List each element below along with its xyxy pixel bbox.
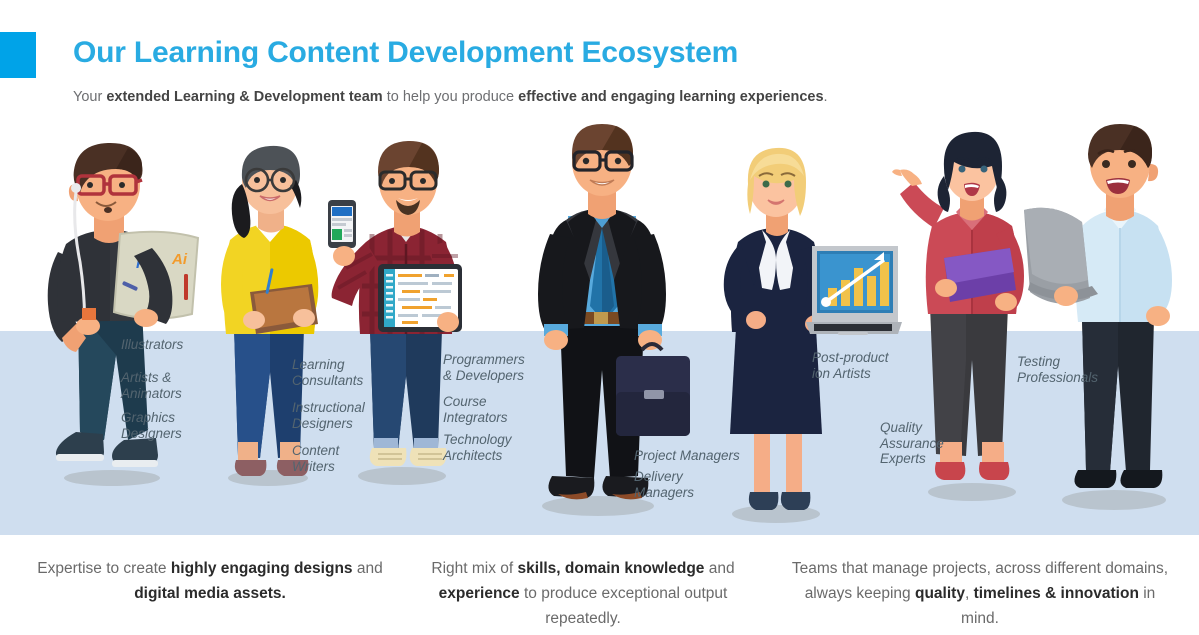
role-label-instructional-designers: Instructional Designers: [292, 400, 365, 431]
role-label-quality-assurance: Quality Assurance Experts: [880, 420, 944, 467]
role-label-post-production-artists: Post-product ion Artists: [812, 350, 889, 381]
shoe-left: [749, 492, 779, 510]
role-label-graphics-designers: Graphics Designers: [121, 410, 182, 441]
caption-design: Expertise to create highly engaging desi…: [30, 556, 390, 606]
caption-skills: Right mix of skills, domain knowledge an…: [418, 556, 748, 631]
figure-consultant: [208, 142, 338, 492]
page-subtitle: Your extended Learning & Development tea…: [73, 89, 828, 105]
infographic-page: Our Learning Content Development Ecosyst…: [0, 0, 1199, 635]
figure-shadow: [358, 467, 446, 485]
role-label-project-managers: Project Managers: [634, 448, 740, 464]
bottom-captions: Expertise to create highly engaging desi…: [0, 548, 1199, 635]
shoe-right: [1120, 470, 1162, 488]
briefcase: [616, 344, 690, 436]
role-label-technology-architects: Technology Architects: [443, 432, 512, 463]
laptop-with-chart: [806, 246, 902, 335]
page-title: Our Learning Content Development Ecosyst…: [73, 36, 738, 70]
role-label-programmers-developers: Programmers & Developers: [443, 352, 525, 383]
shoe-left: [1074, 470, 1116, 488]
shoe-left: [235, 460, 267, 476]
role-label-testing-professionals: Testing Professionals: [1017, 354, 1098, 385]
caption-management: Teams that manage projects, across diffe…: [790, 556, 1170, 631]
arm-raised: [900, 182, 944, 228]
role-label-learning-consultants: Learning Consultants: [292, 357, 363, 388]
accent-square: [0, 32, 36, 78]
role-label-delivery-managers: Delivery Managers: [634, 469, 694, 500]
figure-shadow: [928, 483, 1016, 501]
figure-shadow: [64, 470, 160, 486]
role-label-content-writers: Content Writers: [292, 443, 339, 474]
shoe-left: [370, 448, 407, 466]
role-label-artists-animators: Artists & Animators: [121, 370, 182, 401]
figure-post-production: [714, 142, 899, 527]
shoe-right: [979, 462, 1009, 480]
shoe-right: [410, 448, 447, 466]
smartphone: [328, 200, 356, 248]
figure-tester: [1028, 124, 1198, 514]
role-label-course-integrators: Course Integrators: [443, 394, 508, 425]
figure-shadow: [1062, 490, 1166, 510]
shoe-right: [781, 492, 811, 510]
skirt: [730, 328, 822, 434]
role-label-illustrators: Illustrators: [121, 337, 183, 353]
svg-text:Ai: Ai: [171, 251, 188, 268]
